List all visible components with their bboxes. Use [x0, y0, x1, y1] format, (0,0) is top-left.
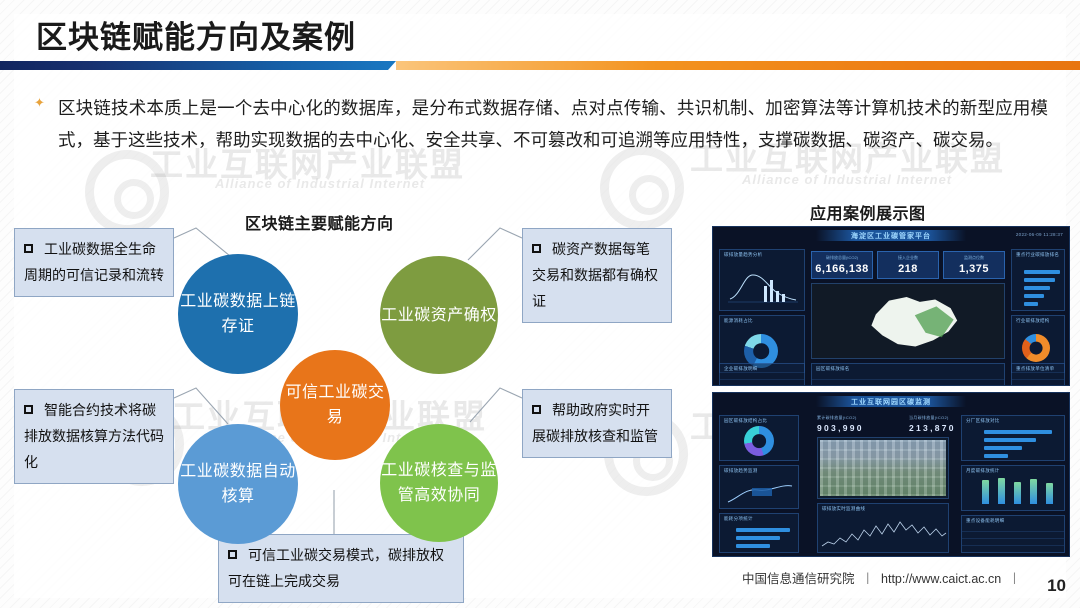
circle-industrial-carbon-data-onchain[interactable]: 工业碳数据上链存证: [178, 254, 298, 374]
compare-bar: [984, 438, 1036, 442]
circle-label: 工业碳核查与监管高效协同: [380, 458, 498, 508]
footer: 中国信息通信研究院丨http://www.caict.ac.cn丨: [742, 568, 1028, 587]
table-row: [1012, 382, 1064, 386]
slide-canvas: 区块链赋能方向及案例 工业互联网产业联盟 Alliance of Industr…: [0, 0, 1080, 608]
table-row: [812, 382, 1004, 386]
panel-label: 月度碳排放统计: [966, 468, 1000, 474]
kpi-label: 碳排放总量(tCO2): [826, 255, 858, 261]
cases-heading: 应用案例展示图: [810, 200, 926, 224]
structure-donut-chart: [1022, 334, 1050, 362]
callout-square-icon: [228, 550, 237, 559]
dashboard-bottom-panel-monthly[interactable]: 月度碳排放统计: [961, 465, 1065, 511]
panel-label: 重点设备能耗明细: [966, 518, 1004, 524]
circle-label: 工业碳数据自动核算: [178, 459, 298, 509]
table-row: [962, 528, 1064, 532]
callout-bottom-right: 帮助政府实时开展碳排放核查和监管: [522, 389, 672, 458]
dashboard-bottom-panel-compare[interactable]: 分厂区排放对比: [961, 415, 1065, 461]
page-number: 10: [1047, 576, 1066, 596]
dashboard-bottom-panel-structure[interactable]: 园区碳排放结构占比: [719, 415, 799, 461]
compare-bar: [984, 446, 1022, 450]
energy-bar: [736, 528, 790, 532]
circle-carbon-verification-supervision[interactable]: 工业碳核查与监管高效协同: [380, 424, 498, 542]
panel-label: 重点排放单位清单: [1016, 366, 1054, 372]
panel-label: 园区碳排放结构占比: [724, 418, 767, 424]
dashboard-bottom-table[interactable]: 重点设备能耗明细: [961, 515, 1065, 553]
callout-square-icon: [24, 244, 33, 253]
dashboard-top-table-left[interactable]: 企业碳排放明细: [719, 363, 805, 386]
rank-bar: [1024, 286, 1050, 290]
energy-bar: [736, 536, 780, 540]
compare-bar: [984, 430, 1052, 434]
bottom-metric-1-value: 903,990: [817, 423, 864, 433]
circle-label: 工业碳资产确权: [381, 303, 497, 328]
bottom-metric-2-label: 当月碳排放量(tCO2): [909, 415, 949, 421]
panel-label: 分厂区排放对比: [966, 418, 1000, 424]
realtime-sparkline-svg: [818, 516, 950, 550]
dashboard-bottom-panel-energy-items[interactable]: 能耗分项统计: [719, 513, 799, 553]
divider-orange-segment: [396, 61, 1080, 70]
footer-url[interactable]: http://www.caict.ac.cn: [881, 572, 1001, 586]
callout-square-icon: [532, 244, 541, 253]
dashboard-screenshot-top[interactable]: 海淀区工业碳管家平台 2022-06-09 11:28:37 碳排放量趋势分析 …: [712, 226, 1070, 386]
table-row: [1012, 376, 1064, 380]
callout-top-left: 工业碳数据全生命周期的可信记录和流转: [14, 228, 174, 297]
energy-bar: [736, 544, 770, 548]
circle-automatic-carbon-accounting[interactable]: 工业碳数据自动核算: [178, 424, 298, 544]
callout-bottom-right-text: 帮助政府实时开展碳排放核查和监管: [532, 402, 658, 444]
kpi-value: 6,166,138: [815, 263, 868, 275]
dashboard-top-kpi-1: 碳排放总量(tCO2) 6,166,138: [811, 251, 873, 279]
footer-separator-2: 丨: [1008, 572, 1021, 586]
footer-separator: 丨: [862, 572, 875, 586]
divider-blue-segment: [0, 61, 396, 70]
panel-label: 能耗分项统计: [724, 516, 753, 522]
bullet-marker-icon: ✦: [34, 96, 48, 110]
bottom-metric-2-value: 213,870: [909, 423, 956, 433]
circle-trusted-industrial-carbon-trading[interactable]: 可信工业碳交易: [280, 350, 390, 460]
dashboard-bottom-title: 工业互联网园区碳监测: [713, 397, 1069, 407]
bottom-trend-svg: [720, 476, 800, 508]
table-row: [962, 542, 1064, 546]
footer-organization: 中国信息通信研究院: [742, 572, 855, 586]
panel-label: 重点行业碳排放排名: [1016, 252, 1059, 258]
dashboard-top-map-panel[interactable]: [811, 283, 1005, 359]
callout-bottom-left: 智能合约技术将碳排放数据核算方法代码化: [14, 389, 174, 484]
table-row: [812, 376, 1004, 380]
panel-label: 能源消耗占比: [724, 318, 753, 324]
table-row: [962, 535, 1064, 539]
kpi-label: 监测点位数: [964, 255, 984, 261]
rank-bar: [1024, 302, 1038, 306]
dashboard-top-timestamp: 2022-06-09 11:28:37: [1016, 232, 1063, 237]
page-title: 区块链赋能方向及案例: [36, 12, 356, 57]
table-row: [720, 382, 804, 386]
dashboard-bottom-photo-panel[interactable]: [817, 437, 949, 499]
panel-label: 企业碳排放明细: [724, 366, 758, 372]
watermark-en-left: Alliance of Industrial Internet: [215, 176, 425, 191]
body-paragraph: 区块链技术本质上是一个去中心化的数据库，是分布式数据存储、点对点传输、共识机制、…: [58, 92, 1048, 156]
kpi-value: 218: [898, 263, 918, 275]
rank-bar: [1024, 278, 1055, 282]
panel-label: 碳排放趋势监测: [724, 468, 758, 474]
callout-square-icon: [24, 405, 33, 414]
circle-label: 工业碳数据上链存证: [178, 289, 298, 339]
circle-industrial-carbon-asset-rights[interactable]: 工业碳资产确权: [380, 256, 498, 374]
panel-label: 碳排放实时监测曲线: [822, 506, 865, 512]
dashboard-top-table-center[interactable]: 园区碳排放排名: [811, 363, 1005, 386]
rank-bar: [1024, 294, 1044, 298]
callout-top-right: 碳资产数据每笔交易和数据都有确权证: [522, 228, 672, 323]
dashboard-top-panel-trend[interactable]: 碳排放量趋势分析: [719, 249, 805, 311]
callout-bottom-left-text: 智能合约技术将碳排放数据核算方法代码化: [24, 402, 164, 470]
dashboard-top-table-right[interactable]: 重点排放单位清单: [1011, 363, 1065, 386]
monthly-bar: [1030, 479, 1037, 504]
dashboard-screenshot-bottom[interactable]: 工业互联网园区碳监测 园区碳排放结构占比 碳排放趋势监测 能耗分项统计 累计碳排…: [712, 392, 1070, 557]
callout-top-left-text: 工业碳数据全生命周期的可信记录和流转: [24, 241, 164, 283]
panel-label: 行业碳排放结构: [1016, 318, 1050, 324]
kpi-label: 接入企业数: [898, 255, 918, 261]
monthly-bar: [1046, 483, 1053, 504]
monthly-bar: [998, 478, 1005, 504]
title-divider-rule: [0, 61, 1080, 70]
kpi-value: 1,375: [959, 263, 989, 275]
rank-bar: [1024, 270, 1060, 274]
dashboard-bottom-realtime-panel[interactable]: 碳排放实时监测曲线: [817, 503, 949, 553]
callout-bottom-center: 可信工业碳交易模式，碳排放权可在链上完成交易: [218, 534, 464, 603]
dashboard-bottom-panel-trend[interactable]: 碳排放趋势监测: [719, 465, 799, 509]
compare-bar: [984, 454, 1008, 458]
bottom-metric-1-label: 累计碳排放量(tCO2): [817, 415, 857, 421]
monthly-bar: [1014, 482, 1021, 504]
trend-chart-svg: [720, 266, 806, 310]
callout-square-icon: [532, 405, 541, 414]
table-row: [720, 376, 804, 380]
panel-label: 碳排放量趋势分析: [724, 252, 762, 258]
watermark-en-right: Alliance of Industrial Internet: [742, 172, 952, 187]
dashboard-top-kpi-3: 监测点位数 1,375: [943, 251, 1005, 279]
dashboard-top-kpi-2: 接入企业数 218: [877, 251, 939, 279]
dashboard-top-panel-industry-rank[interactable]: 重点行业碳排放排名: [1011, 249, 1065, 311]
callout-top-right-text: 碳资产数据每笔交易和数据都有确权证: [532, 241, 658, 309]
callout-bottom-center-text: 可信工业碳交易模式，碳排放权可在链上完成交易: [228, 547, 444, 589]
monthly-bar: [982, 480, 989, 504]
park-aerial-photo: [820, 440, 946, 496]
panel-label: 园区碳排放排名: [816, 366, 850, 372]
circle-label: 可信工业碳交易: [280, 380, 390, 430]
bottom-structure-donut: [744, 426, 774, 456]
